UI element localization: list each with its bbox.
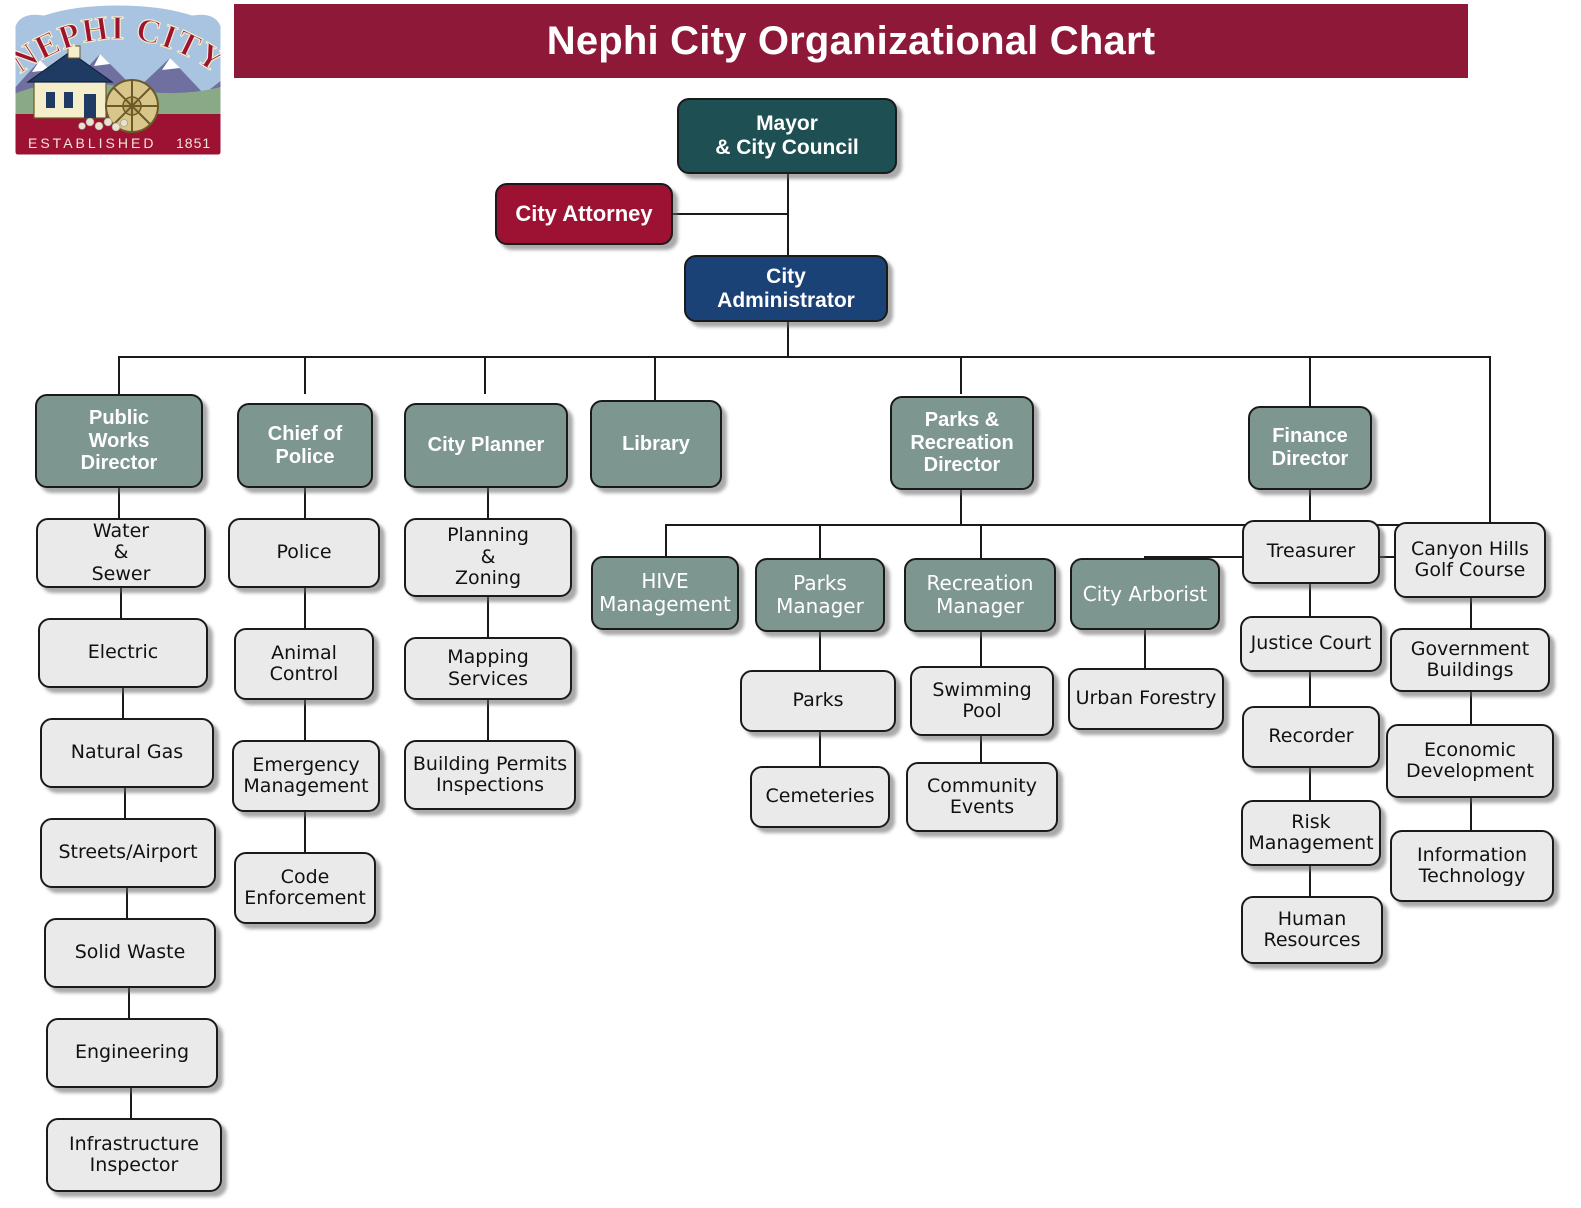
node-information-technology[interactable]: Information Technology	[1390, 830, 1554, 902]
node-city-planner-label: City Planner	[410, 434, 562, 457]
node-infotech-line2: Technology	[1396, 866, 1548, 887]
node-water-sewer-line2: &	[42, 542, 200, 563]
node-econdev-line2: Development	[1392, 761, 1548, 782]
node-infra-line2: Inspector	[52, 1155, 216, 1176]
node-city-arborist[interactable]: City Arborist	[1070, 558, 1220, 630]
connector-drop-library	[654, 356, 656, 400]
node-finance-line2: Director	[1254, 448, 1366, 471]
node-treasurer[interactable]: Treasurer	[1242, 520, 1380, 584]
node-water-sewer-line1: Water	[42, 521, 200, 542]
node-govbld-line2: Buildings	[1396, 660, 1544, 681]
node-parks-manager[interactable]: Parks Manager	[755, 558, 885, 632]
node-econdev-line1: Economic	[1392, 740, 1548, 761]
node-building-permits-inspections[interactable]: Building Permits Inspections	[404, 740, 576, 810]
page-title: Nephi City Organizational Chart	[234, 4, 1468, 78]
connector-fin-3	[1309, 672, 1311, 706]
node-urban-forestry[interactable]: Urban Forestry	[1068, 668, 1224, 730]
node-water-sewer-line3: Sewer	[42, 564, 200, 585]
node-city-planner[interactable]: City Planner	[404, 403, 568, 488]
node-pw-line2: Works	[41, 430, 197, 453]
svg-text:ESTABLISHED: ESTABLISHED	[28, 135, 156, 151]
node-police-label: Police	[234, 542, 374, 563]
node-justice-court-label: Justice Court	[1246, 633, 1376, 654]
nephi-city-logo: NEPHI CITY ESTABLISHED 1851	[4, 2, 232, 160]
node-urban-forestry-label: Urban Forestry	[1074, 688, 1218, 709]
node-animal-line1: Animal	[240, 643, 368, 664]
connector-rec-1	[980, 630, 982, 666]
connector-mayor-admin	[787, 174, 789, 260]
node-parks-rec-line3: Director	[896, 454, 1028, 477]
connector-attorney-spine	[672, 213, 789, 215]
connector-fin-2	[1309, 584, 1311, 616]
node-mapping-line1: Mapping	[410, 647, 566, 668]
node-emergency-line1: Emergency	[238, 755, 374, 776]
node-events-line1: Community	[912, 776, 1052, 797]
node-permits-line2: Inspections	[410, 775, 570, 796]
node-emergency-management[interactable]: Emergency Management	[232, 740, 380, 812]
node-pw-line1: Public	[41, 407, 197, 430]
node-infra-line1: Infrastructure	[52, 1134, 216, 1155]
connector-pw-4	[124, 788, 126, 818]
node-solid-waste-label: Solid Waste	[50, 942, 210, 963]
node-parks-label: Parks	[746, 690, 890, 711]
connector-cp-3	[304, 700, 306, 740]
node-animal-control[interactable]: Animal Control	[234, 628, 374, 700]
node-swimming-pool[interactable]: Swimming Pool	[910, 666, 1054, 736]
connector-parks-1	[819, 630, 821, 670]
connector-drop-golf	[1489, 356, 1491, 522]
node-golf-line1: Canyon Hills	[1400, 539, 1540, 560]
node-police[interactable]: Police	[228, 518, 380, 588]
node-city-administrator[interactable]: City Administrator	[684, 255, 888, 322]
node-recorder-label: Recorder	[1248, 726, 1374, 747]
connector-cp-2	[304, 588, 306, 628]
node-natural-gas-label: Natural Gas	[46, 742, 208, 763]
node-hive-line2: Management	[597, 593, 733, 616]
node-mayor-city-council[interactable]: Mayor & City Council	[677, 98, 897, 174]
connector-drop-chief-police	[304, 356, 306, 394]
nephi-city-logo-svg: NEPHI CITY ESTABLISHED 1851	[4, 2, 232, 160]
node-natural-gas[interactable]: Natural Gas	[40, 718, 214, 788]
node-justice-court[interactable]: Justice Court	[1240, 616, 1382, 672]
node-risk-line1: Risk	[1247, 812, 1375, 833]
node-community-events[interactable]: Community Events	[906, 762, 1058, 832]
connector-pw-2	[120, 588, 122, 618]
connector-main-bus	[118, 356, 1491, 358]
connector-pw-7	[130, 1088, 132, 1118]
node-hive-management[interactable]: HIVE Management	[591, 556, 739, 630]
node-planning-line1: Planning	[410, 525, 566, 546]
node-planning-line2: &	[410, 547, 566, 568]
node-rec-mgr-line1: Recreation	[910, 572, 1050, 595]
node-pool-line1: Swimming	[916, 680, 1048, 701]
connector-cp-4	[304, 812, 306, 852]
node-events-line2: Events	[912, 797, 1052, 818]
node-rec-mgr-line2: Manager	[910, 595, 1050, 618]
connector-arborist-1	[1144, 630, 1146, 668]
node-admin-line1: City	[690, 265, 882, 289]
node-mapping-line2: Services	[410, 669, 566, 690]
node-golf-line2: Golf Course	[1400, 560, 1540, 581]
node-engineering-label: Engineering	[52, 1042, 212, 1063]
node-canyon-hills-golf-course[interactable]: Canyon Hills Golf Course	[1394, 522, 1546, 598]
node-parks-mgr-line1: Parks	[761, 572, 879, 595]
node-animal-line2: Control	[240, 664, 368, 685]
node-economic-development[interactable]: Economic Development	[1386, 724, 1554, 798]
connector-admin-bus	[787, 322, 789, 358]
node-emergency-line2: Management	[238, 776, 374, 797]
node-mayor-line1: Mayor	[683, 112, 891, 136]
node-mayor-line2: & City Council	[683, 136, 891, 160]
node-risk-line2: Management	[1247, 833, 1375, 854]
node-human-resources[interactable]: Human Resources	[1241, 896, 1383, 964]
node-treasurer-label: Treasurer	[1248, 541, 1374, 562]
node-solid-waste[interactable]: Solid Waste	[44, 918, 216, 988]
connector-cpl-3	[487, 700, 489, 740]
node-parks-rec-line1: Parks &	[896, 409, 1028, 432]
node-chief-of-police[interactable]: Chief of Police	[237, 403, 373, 488]
node-recorder[interactable]: Recorder	[1242, 706, 1380, 768]
node-planning-zoning[interactable]: Planning & Zoning	[404, 518, 572, 597]
node-finance-director[interactable]: Finance Director	[1248, 406, 1372, 490]
node-code-line1: Code	[240, 867, 370, 888]
node-parks-mgr-line2: Manager	[761, 595, 879, 618]
node-water-sewer[interactable]: Water & Sewer	[36, 518, 206, 588]
connector-parks-2	[819, 730, 821, 766]
node-library-label: Library	[596, 433, 716, 456]
connector-pw-5	[126, 888, 128, 918]
connector-pw-6	[128, 988, 130, 1018]
node-admin-line2: Administrator	[690, 289, 882, 313]
connector-fin-5	[1309, 866, 1311, 896]
node-hive-line1: HIVE	[597, 570, 733, 593]
connector-drop-city-planner	[484, 356, 486, 394]
node-city-arborist-label: City Arborist	[1076, 583, 1214, 606]
node-mapping-services[interactable]: Mapping Services	[404, 637, 572, 700]
connector-pr-drop-parks-mgr	[819, 524, 821, 558]
node-govbld-line1: Government	[1396, 639, 1544, 660]
node-hr-line2: Resources	[1247, 930, 1377, 951]
connector-fin-1	[1309, 490, 1311, 520]
node-parks-rec-line2: Recreation	[896, 432, 1028, 455]
node-chief-line1: Chief of	[243, 423, 367, 446]
node-engineering[interactable]: Engineering	[46, 1018, 218, 1088]
node-infotech-line1: Information	[1396, 845, 1548, 866]
node-streets-airport-label: Streets/Airport	[46, 842, 210, 863]
connector-golf-3	[1470, 798, 1472, 830]
node-city-attorney[interactable]: City Attorney	[495, 183, 673, 245]
connector-drop-public-works	[118, 356, 120, 394]
node-parks-recreation-director[interactable]: Parks & Recreation Director	[890, 396, 1034, 490]
connector-fin-4	[1309, 768, 1311, 800]
node-code-enforcement[interactable]: Code Enforcement	[234, 852, 376, 924]
node-infrastructure-inspector[interactable]: Infrastructure Inspector	[46, 1118, 222, 1192]
node-electric[interactable]: Electric	[38, 618, 208, 688]
node-recreation-manager[interactable]: Recreation Manager	[904, 558, 1056, 632]
node-chief-line2: Police	[243, 446, 367, 469]
node-pool-line2: Pool	[916, 701, 1048, 722]
node-risk-management[interactable]: Risk Management	[1241, 800, 1381, 866]
svg-text:1851: 1851	[176, 135, 211, 151]
connector-pr-drop-hive	[665, 524, 667, 556]
connector-cpl-1	[487, 488, 489, 518]
node-streets-airport[interactable]: Streets/Airport	[40, 818, 216, 888]
connector-drop-parks-rec	[960, 356, 962, 394]
org-chart-page: NEPHI CITY ESTABLISHED 1851 Nephi City O…	[0, 0, 1581, 1208]
connector-cpl-2	[487, 597, 489, 637]
connector-pr-drop-rec-mgr	[980, 524, 982, 558]
node-hr-line1: Human	[1247, 909, 1377, 930]
node-cemeteries-label: Cemeteries	[756, 786, 884, 807]
node-permits-line1: Building Permits	[410, 754, 570, 775]
node-city-attorney-label: City Attorney	[501, 202, 667, 227]
node-parks[interactable]: Parks	[740, 670, 896, 732]
node-library[interactable]: Library	[590, 400, 722, 488]
node-public-works-director[interactable]: Public Works Director	[35, 394, 203, 488]
node-finance-line1: Finance	[1254, 425, 1366, 448]
connector-pw-3	[122, 688, 124, 718]
connector-golf-1	[1470, 598, 1472, 628]
node-government-buildings[interactable]: Government Buildings	[1390, 628, 1550, 692]
connector-pr-stem	[960, 490, 962, 524]
connector-golf-2	[1470, 692, 1472, 724]
node-code-line2: Enforcement	[240, 888, 370, 909]
node-pw-line3: Director	[41, 452, 197, 475]
connector-drop-finance	[1309, 356, 1311, 406]
node-planning-line3: Zoning	[410, 568, 566, 589]
connector-pw-1	[118, 488, 120, 518]
connector-cp-1	[304, 488, 306, 518]
node-cemeteries[interactable]: Cemeteries	[750, 766, 890, 828]
node-electric-label: Electric	[44, 642, 202, 663]
